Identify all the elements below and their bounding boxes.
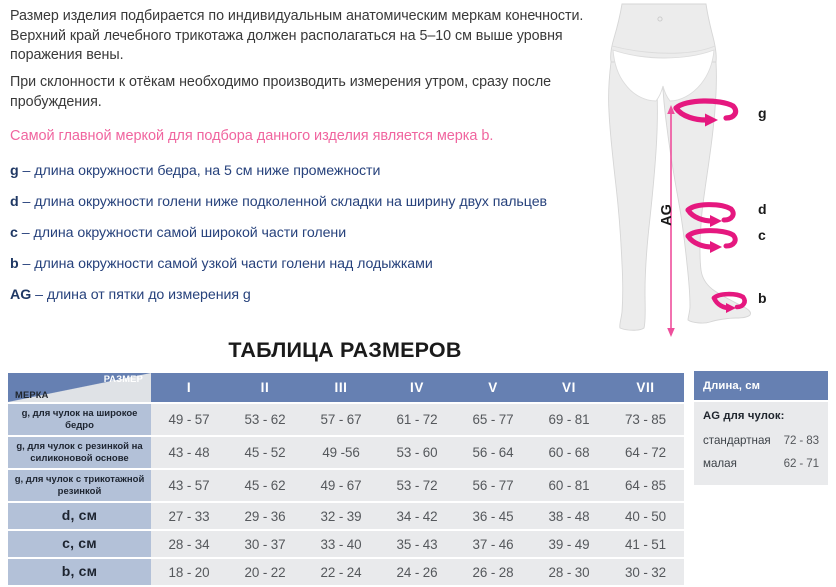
definition-text-b: длина окружности самой узкой части голен… — [34, 256, 432, 272]
table-cell: 28 - 30 — [531, 559, 607, 585]
table-cell: 26 - 28 — [455, 559, 531, 585]
table-cell: 27 - 33 — [151, 503, 227, 529]
table-cell: 60 - 68 — [531, 437, 607, 468]
column-header-2: II — [227, 373, 303, 402]
table-cell: 37 - 46 — [455, 531, 531, 557]
definition-text-c: длина окружности самой широкой части гол… — [34, 225, 347, 241]
definition-key-ag: AG — [10, 287, 31, 303]
table-cell: 41 - 51 — [607, 531, 684, 557]
table-row: b, см 18 - 20 20 - 22 22 - 24 24 - 26 26… — [8, 559, 684, 585]
table-cell: 36 - 45 — [455, 503, 531, 529]
table-cell: 20 - 22 — [227, 559, 303, 585]
length-value: 62 - 71 — [784, 457, 819, 470]
table-cell: 56 - 77 — [455, 470, 531, 501]
intro-paragraph-1: Размер изделия подбирается по индивидуал… — [10, 7, 600, 66]
column-header-6: VI — [531, 373, 607, 402]
measurement-definitions-list: g – длина окружности бедра, на 5 см ниже… — [10, 163, 610, 318]
definition-dash-ag: – — [35, 287, 43, 303]
column-header-4: IV — [379, 373, 455, 402]
column-header-5: V — [455, 373, 531, 402]
definition-text-d: длина окружности голени ниже подколенной… — [34, 194, 547, 210]
row-label: g, для чулок с резинкой на силиконовой о… — [8, 437, 151, 468]
label-g: g — [758, 105, 767, 121]
row-label: b, см — [8, 559, 151, 585]
table-cell: 65 - 77 — [455, 404, 531, 435]
table-cell: 33 - 40 — [303, 531, 379, 557]
table-cell: 38 - 48 — [531, 503, 607, 529]
table-cell: 18 - 20 — [151, 559, 227, 585]
definition-dash-b: – — [23, 256, 31, 272]
table-row: d, см 27 - 33 29 - 36 32 - 39 34 - 42 36… — [8, 503, 684, 529]
table-cell: 39 - 49 — [531, 531, 607, 557]
length-panel-header: Длина, см — [694, 371, 828, 400]
body-silhouette-shape — [609, 4, 751, 330]
table-header-row: РАЗМЕР МЕРКА I II III IV V VI VII — [8, 373, 684, 402]
table-row: g, для чулок с резинкой на силиконовой о… — [8, 437, 684, 468]
table-cell: 32 - 39 — [303, 503, 379, 529]
column-header-3: III — [303, 373, 379, 402]
table-cell: 35 - 43 — [379, 531, 455, 557]
definition-dash-c: – — [22, 225, 30, 241]
table-cell: 49 - 57 — [151, 404, 227, 435]
size-table: РАЗМЕР МЕРКА I II III IV V VI VII g, для… — [8, 371, 684, 587]
key-measurement-note: Самой главной меркой для подбора данного… — [10, 126, 606, 146]
table-cell: 53 - 60 — [379, 437, 455, 468]
table-cell: 49 -56 — [303, 437, 379, 468]
label-c: c — [758, 227, 766, 243]
table-cell: 30 - 37 — [227, 531, 303, 557]
table-cell: 53 - 72 — [379, 470, 455, 501]
definition-dash-g: – — [23, 163, 31, 179]
table-cell: 49 - 67 — [303, 470, 379, 501]
column-header-7: VII — [607, 373, 684, 402]
intro-text-column: Размер изделия подбирается по индивидуал… — [0, 0, 610, 340]
definition-text-ag: длина от пятки до измерения g — [47, 287, 251, 303]
definition-item-b: b – длина окружности самой узкой части г… — [10, 256, 610, 287]
definition-text-g: длина окружности бедра, на 5 см ниже про… — [34, 163, 380, 179]
table-cell: 22 - 24 — [303, 559, 379, 585]
table-cell: 43 - 57 — [151, 470, 227, 501]
table-cell: 29 - 36 — [227, 503, 303, 529]
table-cell: 43 - 48 — [151, 437, 227, 468]
table-cell: 56 - 64 — [455, 437, 531, 468]
table-cell: 73 - 85 — [607, 404, 684, 435]
table-cell: 60 - 81 — [531, 470, 607, 501]
row-label: c, см — [8, 531, 151, 557]
table-cell: 34 - 42 — [379, 503, 455, 529]
definition-key-c: c — [10, 225, 18, 241]
table-cell: 61 - 72 — [379, 404, 455, 435]
table-cell: 45 - 52 — [227, 437, 303, 468]
table-corner-header: РАЗМЕР МЕРКА — [8, 373, 151, 402]
label-d: d — [758, 201, 767, 217]
definition-key-b: b — [10, 256, 19, 272]
table-row: g, для чулок с трикотажной резинкой 43 -… — [8, 470, 684, 501]
definition-item-c: c – длина окружности самой широкой части… — [10, 225, 610, 256]
definition-key-g: g — [10, 163, 19, 179]
table-cell: 30 - 32 — [607, 559, 684, 585]
leg-measurement-illustration: AG g d c — [600, 0, 836, 345]
length-value: 72 - 83 — [784, 434, 819, 447]
ag-label: AG — [659, 204, 675, 226]
label-b: b — [758, 290, 767, 306]
table-row: g, для чулок на широкое бедро 49 - 57 53… — [8, 404, 684, 435]
corner-label-razmer: РАЗМЕР — [104, 374, 143, 384]
definition-item-ag: AG – длина от пятки до измерения g — [10, 287, 610, 318]
page-title: ТАБЛИЦА РАЗМЕРОВ — [0, 338, 690, 363]
definition-item-d: d – длина окружности голени ниже подколе… — [10, 194, 610, 225]
table-cell: 40 - 50 — [607, 503, 684, 529]
length-panel-subtitle: AG для чулок: — [703, 408, 819, 431]
corner-label-merka: МЕРКА — [15, 390, 49, 400]
length-panel: Длина, см AG для чулок: стандартная 72 -… — [694, 371, 828, 485]
length-row-small: малая 62 - 71 — [703, 454, 819, 477]
row-label: g, для чулок на широкое бедро — [8, 404, 151, 435]
length-panel-body: AG для чулок: стандартная 72 - 83 малая … — [694, 402, 828, 485]
length-label: малая — [703, 457, 737, 470]
table-cell: 64 - 72 — [607, 437, 684, 468]
definition-dash-d: – — [23, 194, 31, 210]
table-cell: 45 - 62 — [227, 470, 303, 501]
length-label: стандартная — [703, 434, 771, 447]
row-label: d, см — [8, 503, 151, 529]
intro-paragraph-2: При склонности к отёкам необходимо произ… — [10, 73, 590, 112]
column-header-1: I — [151, 373, 227, 402]
table-cell: 57 - 67 — [303, 404, 379, 435]
table-row: c, см 28 - 34 30 - 37 33 - 40 35 - 43 37… — [8, 531, 684, 557]
table-cell: 69 - 81 — [531, 404, 607, 435]
row-label: g, для чулок с трикотажной резинкой — [8, 470, 151, 501]
table-cell: 24 - 26 — [379, 559, 455, 585]
table-cell: 64 - 85 — [607, 470, 684, 501]
length-row-standard: стандартная 72 - 83 — [703, 431, 819, 454]
table-cell: 28 - 34 — [151, 531, 227, 557]
table-cell: 53 - 62 — [227, 404, 303, 435]
definition-item-g: g – длина окружности бедра, на 5 см ниже… — [10, 163, 610, 194]
definition-key-d: d — [10, 194, 19, 210]
